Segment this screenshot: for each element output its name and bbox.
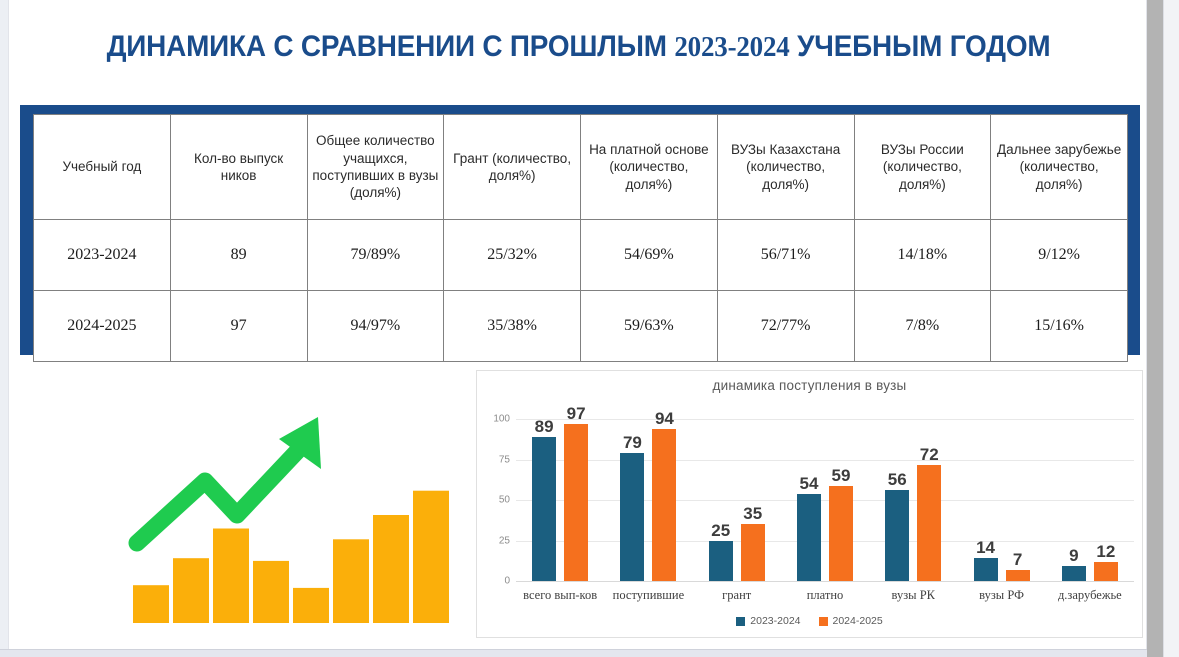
column-header-year: Учебный год	[34, 115, 171, 220]
cell-graduates: 97	[170, 291, 307, 362]
chart-bar-value-label: 79	[623, 434, 642, 451]
chart-bar-group: 7994	[604, 403, 692, 581]
cell-enrolled-total: 94/97%	[307, 291, 444, 362]
chart-bar: 54	[797, 494, 821, 581]
cell-year: 2024-2025	[34, 291, 171, 362]
cell-kz-universities: 72/77%	[717, 291, 854, 362]
chart-legend-item[interactable]: 2023-2024	[736, 615, 800, 627]
chart-bar-group: 5672	[869, 403, 957, 581]
chart-bar: 89	[532, 437, 556, 581]
window-bottom-edge	[0, 649, 1147, 657]
chart-bar-value-label: 7	[1013, 551, 1022, 568]
chart-bar-value-label: 54	[800, 475, 819, 492]
chart-x-tick-label: вузы РФ	[957, 588, 1045, 603]
growth-chart-svg	[119, 395, 449, 635]
chart-bar-group: 147	[957, 403, 1045, 581]
table-row: 2024-2025 97 94/97% 35/38% 59/63% 72/77%…	[34, 291, 1128, 362]
chart-bar-value-label: 25	[711, 522, 730, 539]
growth-bar	[293, 588, 329, 623]
legend-color-swatch	[736, 617, 745, 626]
chart-bar-value-label: 9	[1069, 547, 1078, 564]
chart-x-tick-label: д.зарубежье	[1046, 588, 1134, 603]
growth-bar	[333, 539, 369, 623]
chart-y-tick-label: 100	[493, 414, 510, 425]
chart-y-tick-label: 25	[499, 535, 510, 546]
growth-arrow-icon	[137, 443, 305, 543]
chart-bar: 79	[620, 453, 644, 581]
cell-paid: 59/63%	[581, 291, 718, 362]
chart-bar: 7	[1006, 570, 1030, 581]
slide-surface: ДИНАМИКА С СРАВНЕНИИ С ПРОШЛЫМ 2023-2024…	[8, 0, 1147, 649]
cell-ru-universities: 7/8%	[854, 291, 991, 362]
chart-bar: 9	[1062, 566, 1086, 581]
column-header-enrolled-total: Общее количество учащихся, поступивших в…	[307, 115, 444, 220]
growth-bar	[373, 515, 409, 623]
table-frame: Учебный год Кол-во выпуск ников Общее ко…	[20, 105, 1140, 355]
chart-bar-group: 2535	[693, 403, 781, 581]
chart-bar: 72	[917, 465, 941, 582]
growth-bar	[213, 529, 249, 624]
chart-y-tick-label: 50	[499, 495, 510, 506]
table-row: 2023-2024 89 79/89% 25/32% 54/69% 56/71%…	[34, 220, 1128, 291]
chart-bar: 25	[709, 541, 733, 581]
chart-bar: 35	[741, 524, 765, 581]
chart-bar-value-label: 94	[655, 410, 674, 427]
growth-bar	[253, 561, 289, 623]
chart-bar-value-label: 56	[888, 471, 907, 488]
chart-bar: 59	[829, 486, 853, 581]
chart-bar-value-label: 35	[743, 505, 762, 522]
chart-y-tick-label: 0	[504, 576, 510, 587]
chart-bar-value-label: 72	[920, 446, 939, 463]
page-title-lead: ДИНАМИКА С СРАВНЕНИИ С ПРОШЛЫМ	[107, 30, 667, 63]
chart-bar-value-label: 59	[832, 467, 851, 484]
cell-paid: 54/69%	[581, 220, 718, 291]
chart-plot-area: 0255075100 89977994253554595672147912	[516, 403, 1134, 581]
cell-far-abroad: 15/16%	[991, 291, 1128, 362]
legend-label: 2024-2025	[833, 615, 883, 627]
chart-bar-groups: 89977994253554595672147912	[516, 403, 1134, 581]
chart-bar: 14	[974, 558, 998, 581]
cell-grant: 35/38%	[444, 291, 581, 362]
chart-bar-group: 912	[1046, 403, 1134, 581]
cell-kz-universities: 56/71%	[717, 220, 854, 291]
chart-title: динамика поступления в вузы	[477, 378, 1142, 393]
cell-far-abroad: 9/12%	[991, 220, 1128, 291]
chart-bar: 94	[652, 429, 676, 581]
chart-bar-group: 5459	[781, 403, 869, 581]
cell-ru-universities: 14/18%	[854, 220, 991, 291]
chart-x-axis-labels: всего вып-ковпоступившиегрантплатновузы …	[516, 588, 1134, 603]
column-header-far-abroad: Дальнее зарубежье (количество, доля%)	[991, 115, 1128, 220]
chart-bar: 97	[564, 424, 588, 581]
chart-bar: 12	[1094, 562, 1118, 581]
cell-graduates: 89	[170, 220, 307, 291]
scrollbar-track[interactable]	[1147, 0, 1163, 657]
chart-bar-value-label: 12	[1096, 543, 1115, 560]
window-right-edge	[1163, 0, 1179, 657]
column-header-paid: На платной основе (количество, доля%)	[581, 115, 718, 220]
chart-x-tick-label: поступившие	[604, 588, 692, 603]
chart-x-tick-label: вузы РК	[869, 588, 957, 603]
growth-chart-icon	[119, 395, 449, 635]
chart-bar-value-label: 89	[535, 418, 554, 435]
growth-bar	[413, 491, 449, 623]
chart-x-tick-label: грант	[693, 588, 781, 603]
comparison-table: Учебный год Кол-во выпуск ников Общее ко…	[33, 114, 1128, 362]
chart-legend-item[interactable]: 2024-2025	[819, 615, 883, 627]
slide-viewport: ДИНАМИКА С СРАВНЕНИИ С ПРОШЛЫМ 2023-2024…	[0, 0, 1179, 657]
chart-bar-group: 8997	[516, 403, 604, 581]
chart-x-tick-label: всего вып-ков	[516, 588, 604, 603]
cell-year: 2023-2024	[34, 220, 171, 291]
page-title-years: 2023-2024	[674, 31, 789, 63]
chart-bar: 56	[885, 490, 909, 581]
column-header-graduates: Кол-во выпуск ников	[170, 115, 307, 220]
chart-gridline: 0	[516, 581, 1134, 582]
chart-bar-value-label: 97	[567, 405, 586, 422]
cell-enrolled-total: 79/89%	[307, 220, 444, 291]
column-header-kz-universities: ВУЗы Казахстана (количество, доля%)	[717, 115, 854, 220]
growth-bar	[133, 585, 169, 623]
chart-bar-value-label: 14	[976, 539, 995, 556]
legend-label: 2023-2024	[750, 615, 800, 627]
cell-grant: 25/32%	[444, 220, 581, 291]
chart-x-tick-label: платно	[781, 588, 869, 603]
legend-color-swatch	[819, 617, 828, 626]
column-header-ru-universities: ВУЗы России (количество, доля%)	[854, 115, 991, 220]
chart-legend: 2023-20242024-2025	[477, 615, 1142, 627]
table-header-row: Учебный год Кол-во выпуск ников Общее ко…	[34, 115, 1128, 220]
page-title: ДИНАМИКА С СРАВНЕНИИ С ПРОШЛЫМ 2023-2024…	[49, 30, 1108, 64]
bar-chart-panel: динамика поступления в вузы 0255075100 8…	[476, 370, 1143, 638]
chart-y-tick-label: 75	[499, 454, 510, 465]
column-header-grant: Грант (количество, доля%)	[444, 115, 581, 220]
page-title-tail: УЧЕБНЫМ ГОДОМ	[797, 30, 1050, 63]
growth-bar	[173, 558, 209, 623]
